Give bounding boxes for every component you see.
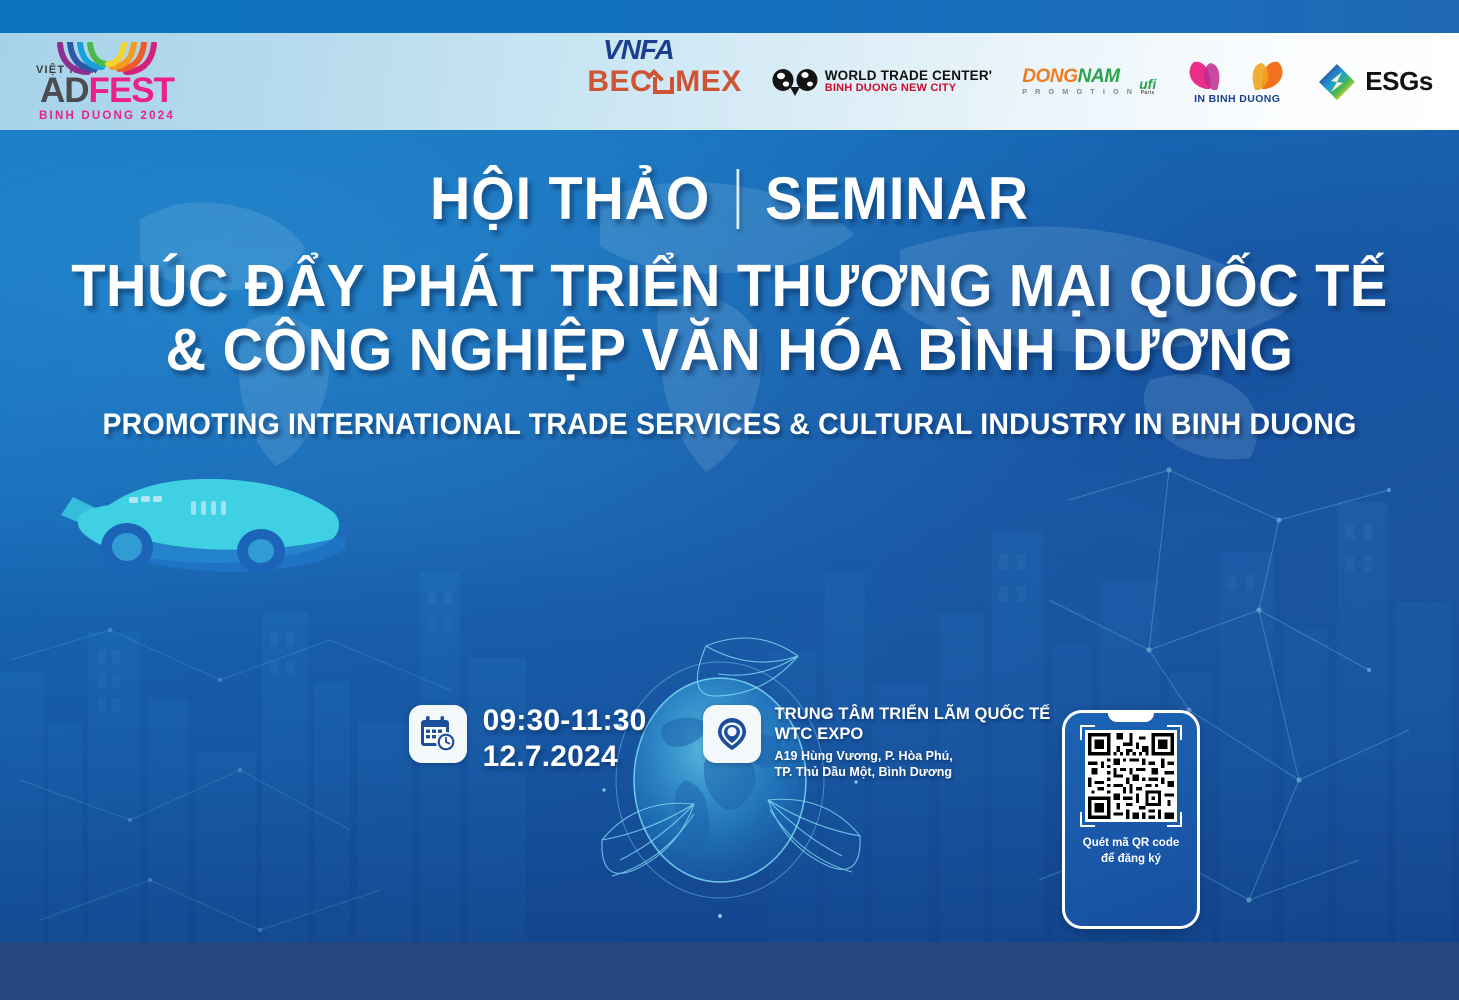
esgs-label: ESGs <box>1365 66 1433 97</box>
event-details-inner: 09:30-11:30 12.7.2024 TRUNG <box>409 705 1051 781</box>
headline-row-primary: HỘI THẢO SEMINAR <box>51 164 1408 233</box>
venue-name-line1: TRUNG TÂM TRIỂN LÃM QUỐC TẾ <box>775 705 1051 725</box>
world-trade-center-logo: WORLD TRADE CENTER' BINH DUONG NEW CITY <box>772 67 993 97</box>
becamex-house-icon <box>653 69 674 94</box>
qr-caption: Quét mã QR code để đăng ký <box>1077 836 1186 867</box>
bottom-accent-band <box>0 942 1459 1000</box>
dongnam-promotion-logo: DONGNAM P R O M O T I O N ufi Paris <box>1022 67 1156 95</box>
wtc-text-block: WORLD TRADE CENTER' BINH DUONG NEW CITY <box>825 69 993 95</box>
headline-block: HỘI THẢO SEMINAR THÚC ĐẨY PHÁT TRIỂN THƯ… <box>0 164 1459 442</box>
becamex-prefix-text: BEC <box>587 67 652 97</box>
headline-topic: THÚC ĐẨY PHÁT TRIỂN THƯƠNG MẠI QUỐC TẾ &… <box>36 255 1422 382</box>
globe-leaves-illustration-icon <box>560 630 900 940</box>
headline-topic-line2: & CÔNG NGHIỆP VĂN HÓA BÌNH DƯƠNG <box>36 319 1422 383</box>
poster-artwork-stage: HỘI THẢO SEMINAR THÚC ĐẨY PHÁT TRIỂN THƯ… <box>0 130 1459 942</box>
qr-registration-card[interactable]: Quét mã QR code để đăng ký <box>1062 710 1200 929</box>
partner-logos: BEC MEX <box>587 33 1433 130</box>
headline-english: SEMINAR <box>765 164 1029 233</box>
vnfa-logo: VNFA IN BINH DUONG <box>1186 59 1288 105</box>
dongnam-text-block: DONGNAM P R O M O T I O N <box>1022 67 1135 95</box>
qr-corner-br <box>1167 812 1182 827</box>
airplane-illustration-icon <box>55 445 345 625</box>
map-pin-icon <box>703 705 761 763</box>
adfest-location-year: BINH DUONG 2024 <box>39 110 175 122</box>
vnfa-wordmark: VNFA <box>587 36 689 64</box>
headline-topic-line1: THÚC ĐẨY PHÁT TRIỂN THƯƠNG MẠI QUỐC TẾ <box>36 255 1422 319</box>
qr-scan-frame <box>1085 730 1177 822</box>
dongnam-nam-text: NAM <box>1078 66 1120 87</box>
wtc-line1: WORLD TRADE CENTER' <box>825 69 993 83</box>
qr-corner-tl <box>1080 725 1095 740</box>
dongnam-dong-text: DONG <box>1022 66 1077 87</box>
adfest-ad-text: AD <box>40 71 89 110</box>
phone-notch <box>1108 713 1154 722</box>
event-datetime-block: 09:30-11:30 12.7.2024 <box>409 705 647 773</box>
event-venue-block: TRUNG TÂM TRIỂN LÃM QUỐC TẾ WTC EXPO A19… <box>703 705 1051 781</box>
event-poster: VIỆT NAM ADFEST BINH DUONG 2024 BEC MEX <box>0 0 1459 1000</box>
adfest-f-text: F <box>89 71 109 110</box>
adfest-rainbow-arc-icon <box>48 42 166 76</box>
esgs-logo: ESGs <box>1318 63 1433 101</box>
qr-corner-tr <box>1167 725 1182 740</box>
qr-code-icon[interactable] <box>1085 730 1177 822</box>
wtc-globe-icon <box>772 67 818 97</box>
vnfa-subtitle: IN BINH DUONG <box>1194 94 1280 105</box>
qr-corner-bl <box>1080 812 1095 827</box>
ufi-subtext: Paris <box>1139 91 1156 96</box>
becamex-logo: BEC MEX <box>587 67 741 97</box>
wtc-line2: BINH DUONG NEW CITY <box>825 83 993 95</box>
venue-name-line2: WTC EXPO <box>775 725 1051 745</box>
adfest-brand-logo: VIỆT NAM ADFEST BINH DUONG 2024 <box>32 34 182 130</box>
calendar-clock-icon <box>409 705 467 763</box>
adfest-wordmark: ADFEST <box>40 74 174 107</box>
dongnam-wordmark: DONGNAM <box>1022 66 1119 87</box>
headline-divider <box>736 169 739 229</box>
event-time: 09:30-11:30 <box>483 705 647 737</box>
adfest-est-text: EST <box>109 71 174 110</box>
dongnam-promotion-text: P R O M O T I O N <box>1022 88 1135 95</box>
headline-vietnamese: HỘI THẢO <box>430 164 710 233</box>
event-date: 12.7.2024 <box>483 741 647 773</box>
top-accent-strip <box>0 0 1459 33</box>
event-datetime-text: 09:30-11:30 12.7.2024 <box>483 705 647 773</box>
venue-address: A19 Hùng Vương, P. Hòa Phú, TP. Thủ Dầu … <box>775 748 1051 782</box>
event-details-strip: 09:30-11:30 12.7.2024 TRUNG <box>0 705 1459 781</box>
headline-subtitle-english: PROMOTING INTERNATIONAL TRADE SERVICES &… <box>36 408 1422 442</box>
ufi-logo: ufi Paris <box>1139 77 1156 96</box>
vnfa-petal-icon <box>1186 59 1288 93</box>
ufi-text: ufi <box>1139 77 1156 91</box>
esgs-diamond-icon <box>1318 63 1356 101</box>
event-venue-text: TRUNG TÂM TRIỂN LÃM QUỐC TẾ WTC EXPO A19… <box>775 705 1051 781</box>
becamex-suffix-text: MEX <box>675 67 742 97</box>
